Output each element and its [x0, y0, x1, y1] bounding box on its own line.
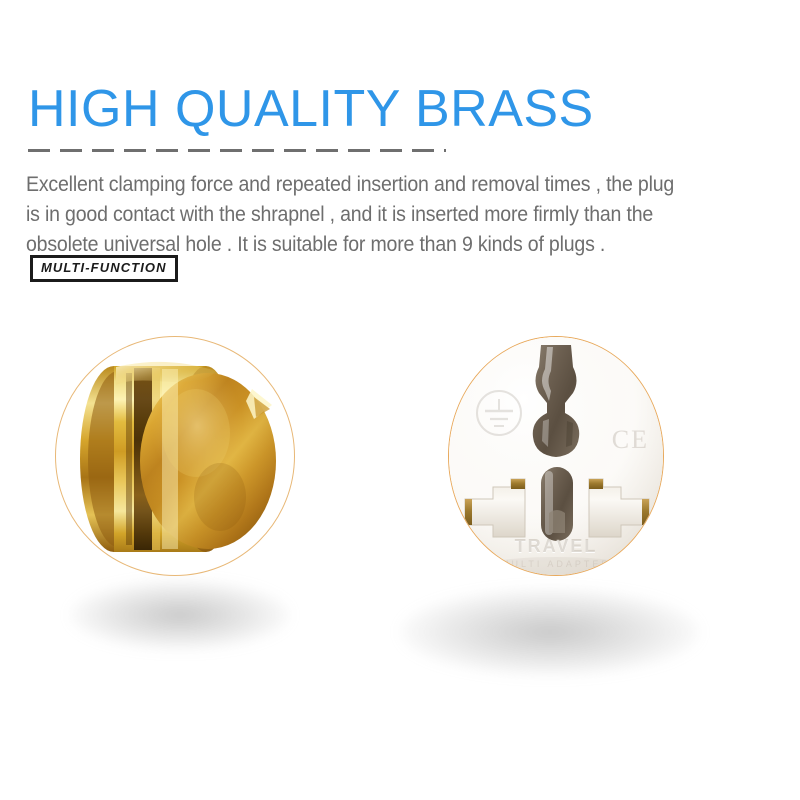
multi-function-badge: MULTI-FUNCTION — [30, 255, 178, 282]
left-photo-shadow — [70, 580, 290, 650]
title-divider — [28, 149, 446, 152]
universal-socket-svg — [449, 337, 663, 575]
socket-center-slot-contact — [549, 510, 565, 533]
socket-left-brass-contact-top — [511, 479, 525, 489]
brass-cylinder-illustration — [56, 337, 294, 575]
brass-cylinder-svg — [56, 337, 294, 575]
brass-face-shade — [194, 463, 246, 531]
brass-cylinder-photo — [55, 336, 295, 576]
brass-groove-thin — [126, 373, 132, 545]
socket-right-brass-contact-top — [589, 479, 603, 489]
description-line: is in good contact with the shrapnel , a… — [26, 200, 724, 230]
page-title: HIGH QUALITY BRASS — [28, 80, 594, 138]
socket-earth-slot-shade — [566, 421, 573, 447]
universal-socket-photo: CE TRAVEL MULTI ADAPTER — [448, 336, 664, 576]
description-text: Excellent clamping force and repeated in… — [26, 170, 724, 260]
product-feature-page: HIGH QUALITY BRASS Excellent clamping fo… — [0, 0, 800, 800]
socket-left-brass-contact — [465, 499, 472, 525]
socket-right-brass-contact — [642, 499, 649, 525]
description-line: Excellent clamping force and repeated in… — [26, 170, 724, 200]
right-photo-shadow — [400, 588, 700, 676]
multi-function-badge-label: MULTI-FUNCTION — [41, 260, 167, 275]
